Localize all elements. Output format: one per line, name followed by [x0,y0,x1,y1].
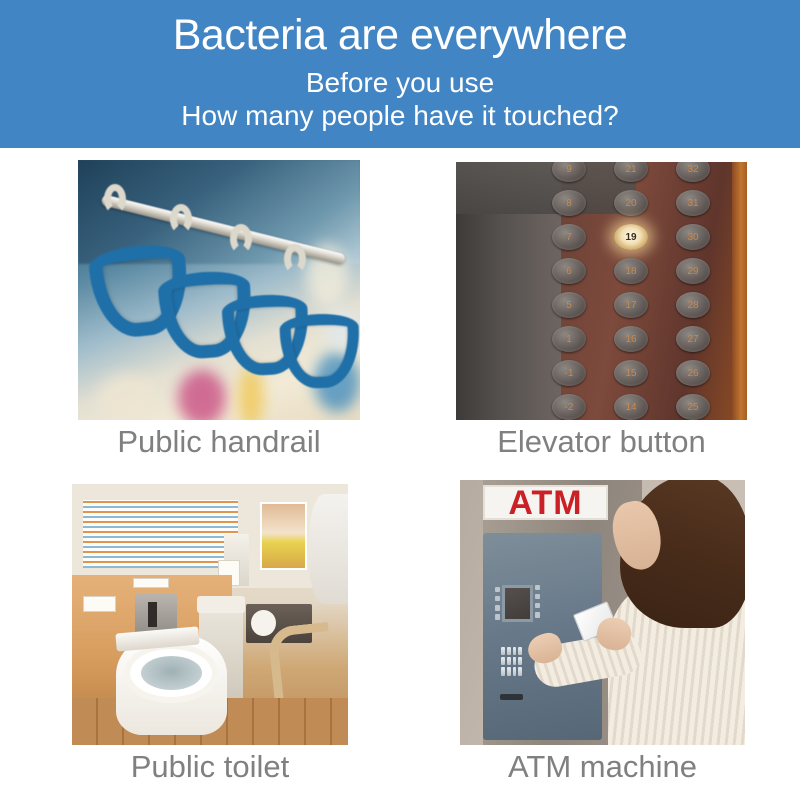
caption-elevator-button: Elevator button [456,424,747,460]
header-banner: Bacteria are everywhere Before you use H… [0,0,800,148]
elevator-metal-top [456,162,636,214]
atm-cash-slot [500,694,524,700]
elevator-button-26: 26 [676,360,710,386]
atm-machine-photo: ATM [460,480,745,745]
tile-mural [83,500,238,568]
elevator-button-32: 32 [676,162,710,182]
caption-public-handrail: Public handrail [78,424,360,460]
elevator-button-25: 25 [676,394,710,420]
elevator-button-31: 31 [676,190,710,216]
atm-side-keys-left [495,587,500,620]
elevator-button-15: 15 [614,360,648,386]
elevator-button-photo: 921328203171930618295172811627-11526-214… [456,162,747,420]
elevator-wood-edge [732,162,747,420]
elevator-button-18: 18 [614,258,648,284]
caption-atm-machine: ATM machine [460,749,745,785]
elevator-button-5: 5 [552,292,586,318]
photo-grid: Public handrail 921328203171930618295172… [0,148,800,800]
toilet-water [141,656,202,690]
elevator-button-29: 29 [676,258,710,284]
subtitle-line-1: Before you use [306,66,494,99]
caption-public-toilet: Public toilet [72,749,348,785]
elevator-button--2: -2 [552,394,586,420]
sink-basin [309,494,348,604]
atm-side-keys-right [535,585,540,618]
elevator-button-8: 8 [552,190,586,216]
grab-bar [267,622,336,706]
elevator-button-20: 20 [614,190,648,216]
atm-sign-text: ATM [508,486,582,520]
elevator-button-30: 30 [676,224,710,250]
elevator-button-28: 28 [676,292,710,318]
wall-sign [133,578,169,588]
atm-screen [502,585,533,622]
wall-poster [260,502,307,570]
subtitle-line-2: How many people have it touched? [181,99,618,132]
atm-keypad [501,647,523,676]
atm-sign: ATM [483,485,608,519]
card-atm-machine: ATM [0,148,285,413]
elevator-button-1: 1 [552,326,586,352]
elevator-button-17: 17 [614,292,648,318]
elevator-button--1: -1 [552,360,586,386]
elevator-button-7: 7 [552,224,586,250]
elevator-button-6: 6 [552,258,586,284]
elevator-button-19: 19 [614,224,648,250]
elevator-button-14: 14 [614,394,648,420]
wall-sign [83,596,116,612]
elevator-button-16: 16 [614,326,648,352]
page-title: Bacteria are everywhere [173,11,628,59]
elevator-button-27: 27 [676,326,710,352]
infographic-page: Bacteria are everywhere Before you use H… [0,0,800,800]
public-toilet-photo [72,484,348,745]
